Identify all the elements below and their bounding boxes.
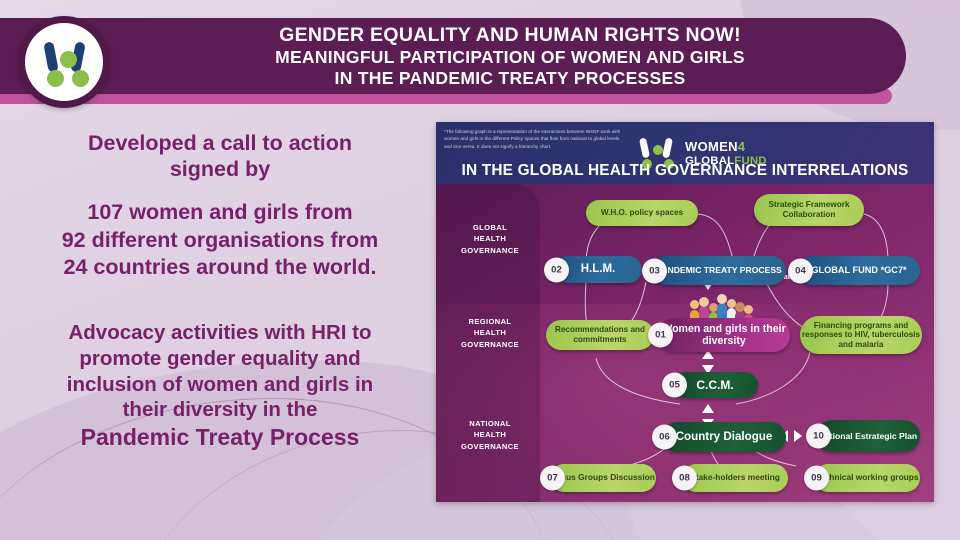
brand-bar-right-icon <box>662 137 673 158</box>
node-technical-working-groups[interactable]: 09 Technical working groups <box>814 464 920 492</box>
node-number-badge: 10 <box>806 424 831 449</box>
cta-line-2: signed by <box>24 156 416 182</box>
advocacy-line-4: their diversity in the <box>24 397 416 423</box>
node-number-badge: 01 <box>648 323 673 348</box>
logo-bar-left-icon <box>43 41 59 72</box>
node-label: Women and girls in their diversity <box>658 323 790 348</box>
figure-1-head <box>690 300 699 309</box>
node-focus-groups-discussion[interactable]: 07 Focus Groups Discussion <box>550 464 656 492</box>
node-label: Financing programs and responses to HIV,… <box>800 321 922 350</box>
page-title: GENDER EQUALITY AND HUMAN RIGHTS NOW! ME… <box>150 24 870 88</box>
node-number-badge: 08 <box>672 466 697 491</box>
node-number-badge: 02 <box>544 257 569 282</box>
node-label: Technical working groups <box>814 473 920 483</box>
band-regional-line3: GOVERNANCE <box>440 339 540 350</box>
logo-dot-right-icon <box>72 70 89 87</box>
brand-bar-left-icon <box>639 137 650 158</box>
band-label-regional: REGIONAL HEALTH GOVERNANCE <box>440 316 540 350</box>
node-hlm[interactable]: 02 H.L.M. <box>554 256 642 283</box>
node-label: GLOBAL FUND *GC7* <box>798 265 920 276</box>
logo-dot-left-icon <box>47 70 64 87</box>
node-label: Strategic Framework Collaboration <box>754 200 864 219</box>
node-pandemic-treaty-process[interactable]: 03 PANDEMIC TREATY PROCESS <box>652 256 786 285</box>
w4gf-logo-mark <box>25 23 103 101</box>
node-label: Focus Groups Discussion <box>550 473 656 483</box>
node-number-badge: 09 <box>804 466 829 491</box>
title-line-2: MEANINGFUL PARTICIPATION OF WOMEN AND GI… <box>150 47 870 68</box>
node-number-badge: 03 <box>642 258 667 283</box>
node-number-badge: 04 <box>788 258 813 283</box>
infographic-footnote: *The following graph is a representation… <box>444 128 624 150</box>
node-national-estrategic-plan[interactable]: 10 National Estrategic Plan <box>816 420 920 452</box>
band-global-line1: GLOBAL <box>440 222 540 233</box>
advocacy-line-1: Advocacy activities with HRI to <box>24 320 416 346</box>
node-number-badge: 06 <box>652 425 677 450</box>
band-regional-line2: HEALTH <box>440 327 540 338</box>
node-country-dialogue[interactable]: 06 Country Dialogue <box>662 422 786 452</box>
node-label: National Estrategic Plan <box>816 431 920 441</box>
w4gf-logo <box>18 16 110 108</box>
band-global-line3: GOVERNANCE <box>440 245 540 256</box>
band-label-global: GLOBAL HEALTH GOVERNANCE <box>440 222 540 256</box>
band-national-line2: HEALTH <box>440 429 540 440</box>
advocacy-line-2: promote gender equality and <box>24 346 416 372</box>
node-recommendations-commitments[interactable]: Recommendations and commitments <box>546 320 654 350</box>
node-number-badge: 07 <box>540 466 565 491</box>
brand-women: WOMEN <box>685 139 738 154</box>
node-global-fund-gc7[interactable]: 04 GLOBAL FUND *GC7* <box>798 256 920 285</box>
node-label: Recommendations and commitments <box>546 325 654 344</box>
node-label: Country Dialogue <box>662 430 786 444</box>
left-text-block-2: Advocacy activities with HRI to promote … <box>24 320 416 452</box>
node-financing-programs-hiv-tb-malaria[interactable]: Financing programs and responses to HIV,… <box>800 316 922 354</box>
node-stakeholders-meeting[interactable]: 08 Stake-holders meeting <box>682 464 788 492</box>
brand-four: 4 <box>738 139 746 154</box>
figure-4-head <box>717 294 727 304</box>
node-number-badge: 05 <box>662 373 687 398</box>
signatory-stats: 107 women and girls from 92 different or… <box>24 199 416 282</box>
band-national-line1: NATIONAL <box>440 418 540 429</box>
node-strategic-framework-collaboration[interactable]: Strategic Framework Collaboration <box>754 194 864 226</box>
stat-line-3: 24 countries around the world. <box>24 254 416 282</box>
title-line-3: IN THE PANDEMIC TREATY PROCESSES <box>150 68 870 89</box>
node-label: W.H.O. policy spaces <box>586 208 698 218</box>
stat-line-1: 107 women and girls from <box>24 199 416 227</box>
node-women-and-girls-in-their-diversity[interactable]: 01 Women and girls in their diversity <box>658 318 790 352</box>
title-line-1: GENDER EQUALITY AND HUMAN RIGHTS NOW! <box>150 24 870 47</box>
stat-line-2: 92 different organisations from <box>24 227 416 255</box>
brand-row-1: WOMEN4 <box>685 140 767 155</box>
band-national-line3: GOVERNANCE <box>440 441 540 452</box>
node-ccm[interactable]: 05 C.C.M. <box>672 372 758 398</box>
advocacy-line-3: inclusion of women and girls in <box>24 372 416 398</box>
figure-2-head <box>699 297 709 307</box>
left-text-block-1: Developed a call to action signed by 107… <box>24 130 416 282</box>
node-label: Stake-holders meeting <box>682 473 788 483</box>
band-label-national: NATIONAL HEALTH GOVERNANCE <box>440 418 540 452</box>
brand-dot-top-icon <box>653 145 663 155</box>
infographic-panel: *The following graph is a representation… <box>436 122 934 502</box>
cta-line-1: Developed a call to action <box>24 130 416 156</box>
node-who-policy-spaces[interactable]: W.H.O. policy spaces <box>586 200 698 226</box>
slide-canvas: GENDER EQUALITY AND HUMAN RIGHTS NOW! ME… <box>0 0 960 540</box>
band-global-line2: HEALTH <box>440 233 540 244</box>
band-regional-line1: REGIONAL <box>440 316 540 327</box>
figure-7-head <box>744 305 753 314</box>
advocacy-emphasis: Pandemic Treaty Process <box>24 423 416 452</box>
infographic-title: IN THE GLOBAL HEALTH GOVERNANCE INTERREL… <box>436 162 934 180</box>
node-label: PANDEMIC TREATY PROCESS <box>652 265 786 275</box>
logo-dot-top-icon <box>60 51 77 68</box>
call-to-action-heading: Developed a call to action signed by <box>24 130 416 182</box>
